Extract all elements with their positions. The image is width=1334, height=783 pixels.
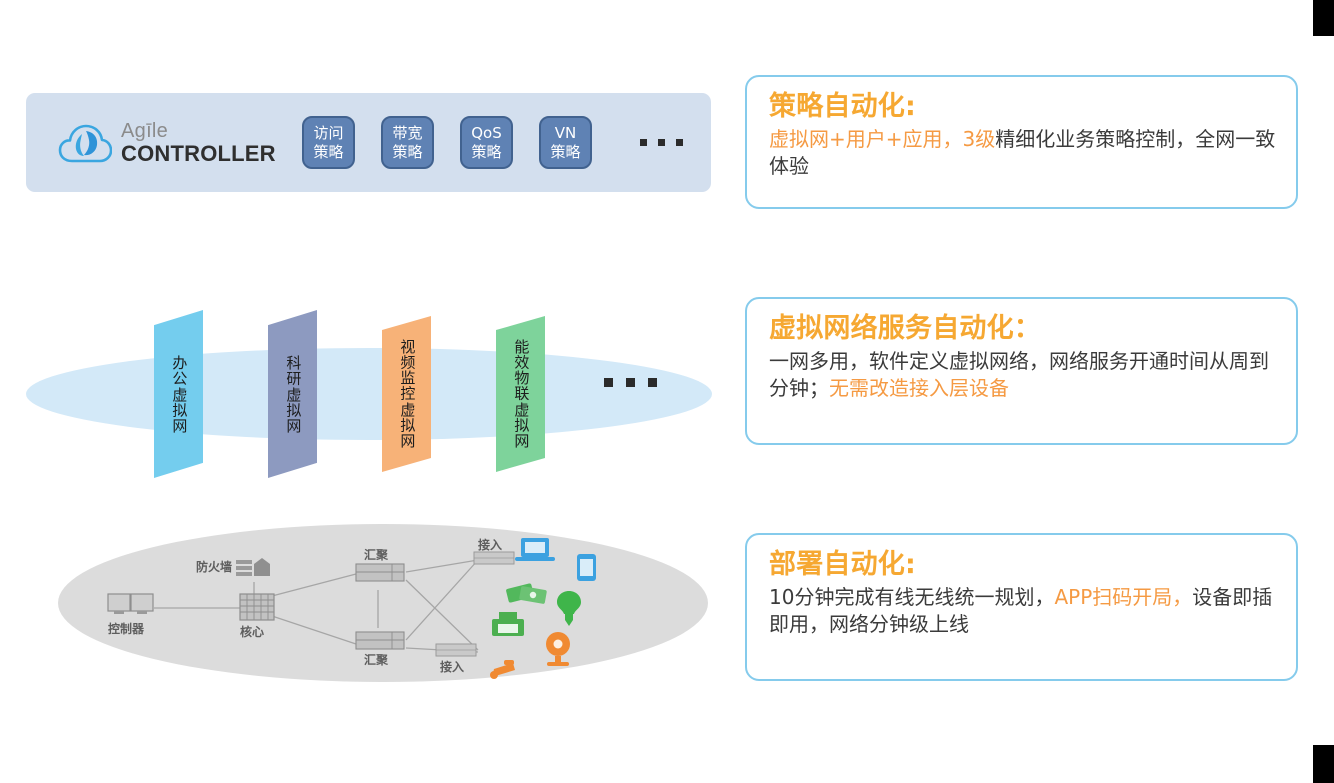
- controller-icon: [108, 594, 153, 614]
- plane-label: 能效物联 虚拟网: [513, 339, 529, 449]
- slide-canvas: Agīle CONTROLLER 访问 策略 带宽 策略 QoS 策略 VN 策…: [0, 0, 1334, 783]
- policy-chip-label-line2: 策略: [550, 143, 580, 161]
- aggregation-switch-icon-1: [356, 564, 404, 581]
- plane-label-col1: 视频监控: [399, 339, 415, 401]
- agile-controller-logo: Agīle CONTROLLER: [58, 121, 294, 165]
- core-switch-icon: [240, 594, 274, 620]
- card-body-highlight: 无需改造接入层设备: [829, 376, 1009, 400]
- policy-chip-label-line1: QoS: [471, 124, 502, 142]
- policy-chip-label-line1: 访问: [313, 124, 343, 142]
- policy-chip-label-line2: 策略: [471, 143, 501, 161]
- plane-label-col2: 虚拟网: [171, 387, 187, 434]
- policy-chip-row: 访问 策略 带宽 策略 QoS 策略 VN 策略: [302, 116, 683, 169]
- virtual-network-plane-video-surveillance[interactable]: 视频监控 虚拟网: [382, 316, 431, 472]
- topology-label-access-1: 接入: [478, 536, 502, 553]
- more-virtual-networks-ellipsis-icon: [604, 378, 657, 387]
- policy-chip-label-line1: VN: [555, 124, 576, 142]
- edge-mark-top: [1313, 0, 1334, 36]
- aggregation-switch-icon-2: [356, 632, 404, 649]
- plane-label: 科研 虚拟网: [285, 355, 301, 434]
- card-title: 部署自动化:: [769, 549, 1276, 581]
- tablet-icon: [577, 554, 596, 581]
- plane-label-col2: 虚拟网: [513, 402, 529, 449]
- plane-label: 办公 虚拟网: [171, 355, 187, 434]
- security-camera-icon: [490, 660, 515, 679]
- policy-chip-access[interactable]: 访问 策略: [302, 116, 355, 169]
- plane-label-col1: 科研: [285, 355, 301, 386]
- policy-chip-qos[interactable]: QoS 策略: [460, 116, 513, 169]
- policy-chip-label-line2: 策略: [392, 143, 422, 161]
- topology-label-firewall: 防火墙: [196, 558, 232, 575]
- access-switch-icon-2: [436, 644, 476, 656]
- card-body-highlight: APP扫码开局，: [1054, 585, 1192, 609]
- plane-label-col1: 办公: [171, 355, 187, 386]
- deployment-automation-card: 部署自动化: 10分钟完成有线无线统一规划，APP扫码开局，设备即插即用，网络分…: [745, 533, 1298, 681]
- network-topology-diagram: 控制器 防火墙 核心 汇聚 汇聚 接入 接入: [26, 520, 716, 685]
- plane-label-col2: 虚拟网: [285, 387, 301, 434]
- printer-icon: [492, 612, 524, 636]
- topology-label-access-2: 接入: [440, 658, 464, 675]
- virtual-network-plane-office[interactable]: 办公 虚拟网: [154, 310, 203, 478]
- virtual-network-service-automation-card: 虚拟网络服务自动化： 一网多用，软件定义虚拟网络，网络服务开通时间从周到分钟；无…: [745, 297, 1298, 445]
- logo-controller-text: CONTROLLER: [121, 143, 276, 165]
- cloud-icon: [58, 121, 112, 165]
- card-body: 一网多用，软件定义虚拟网络，网络服务开通时间从周到分钟；无需改造接入层设备: [769, 348, 1276, 402]
- policy-automation-card: 策略自动化: 虚拟网+用户+应用，3级精细化业务策略控制，全网一致体验: [745, 75, 1298, 209]
- card-body-highlight: 虚拟网+用户+应用，3级: [769, 127, 995, 151]
- card-title: 虚拟网络服务自动化：: [769, 313, 1276, 345]
- virtual-network-group: 办公 虚拟网 科研 虚拟网 视频监控 虚拟网 能效物联 虚拟网: [26, 290, 716, 500]
- logo-agile-text: Agīle: [121, 121, 276, 141]
- card-body: 10分钟完成有线无线统一规划，APP扫码开局，设备即插即用，网络分钟级上线: [769, 584, 1276, 638]
- topology-label-controller: 控制器: [108, 620, 144, 637]
- more-policies-ellipsis-icon: [640, 139, 683, 146]
- virtual-network-plane-research[interactable]: 科研 虚拟网: [268, 310, 317, 478]
- edge-mark-bottom: [1313, 745, 1334, 783]
- laptop-icon: [515, 538, 555, 561]
- topology-label-core: 核心: [240, 623, 264, 640]
- plane-label-col2: 虚拟网: [399, 402, 415, 449]
- access-switch-icon-1: [474, 552, 514, 564]
- plane-label: 视频监控 虚拟网: [399, 339, 415, 449]
- firewall-icon: [236, 558, 270, 576]
- agile-controller-bar: Agīle CONTROLLER 访问 策略 带宽 策略 QoS 策略 VN 策…: [26, 93, 711, 192]
- virtual-network-backdrop-ellipse: [26, 348, 712, 440]
- plane-label-col1: 能效物联: [513, 339, 529, 401]
- card-title: 策略自动化:: [769, 91, 1276, 123]
- card-body: 虚拟网+用户+应用，3级精细化业务策略控制，全网一致体验: [769, 126, 1276, 180]
- topology-label-aggregation-2: 汇聚: [364, 651, 388, 668]
- smart-lamp-icon: [557, 591, 581, 626]
- banknotes-icon: [506, 583, 547, 604]
- policy-chip-label-line1: 带宽: [392, 124, 422, 142]
- policy-chip-vn[interactable]: VN 策略: [539, 116, 592, 169]
- card-body-plain-1: 10分钟完成有线无线统一规划，: [769, 585, 1054, 609]
- policy-chip-label-line2: 策略: [313, 143, 343, 161]
- webcam-icon: [546, 632, 570, 666]
- policy-chip-bandwidth[interactable]: 带宽 策略: [381, 116, 434, 169]
- topology-label-aggregation-1: 汇聚: [364, 546, 388, 563]
- virtual-network-plane-energy-iot[interactable]: 能效物联 虚拟网: [496, 316, 545, 472]
